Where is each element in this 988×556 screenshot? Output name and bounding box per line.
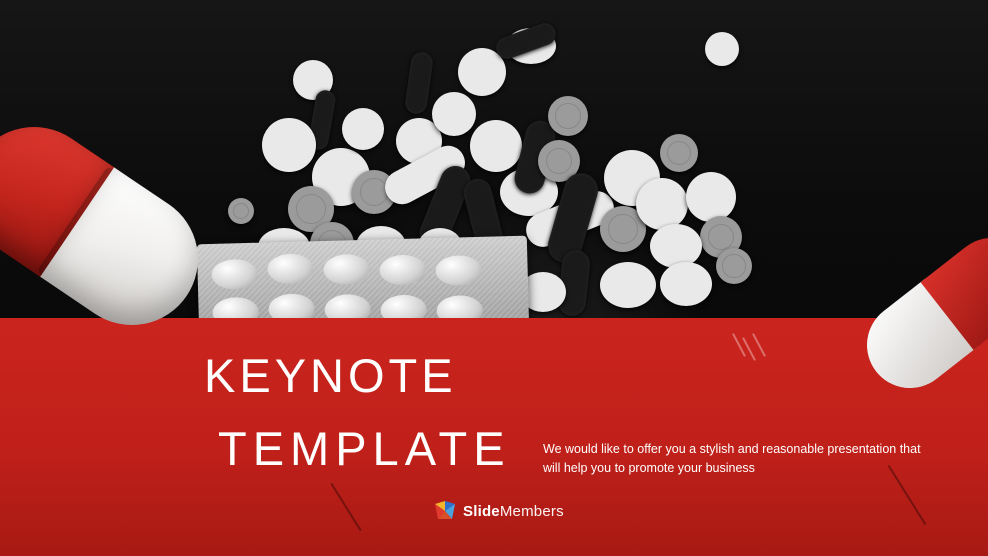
logo-wordmark: SlideMembers xyxy=(463,503,564,520)
slide-title-line-1: KEYNOTE xyxy=(204,352,511,399)
title-block: KEYNOTE TEMPLATE xyxy=(204,352,511,472)
logo-name-bold: Slide xyxy=(463,503,500,520)
logo-name-light: Members xyxy=(500,503,564,520)
slidemembers-logo: SlideMembers xyxy=(434,500,564,522)
slide-subtitle: We would like to offer you a stylish and… xyxy=(543,440,923,479)
slidemembers-pinwheel-icon xyxy=(434,500,456,522)
slide-title-line-2: TEMPLATE xyxy=(218,425,511,472)
blister-pack xyxy=(197,236,529,330)
slide-canvas: KEYNOTE TEMPLATE We would like to offer … xyxy=(0,0,988,556)
